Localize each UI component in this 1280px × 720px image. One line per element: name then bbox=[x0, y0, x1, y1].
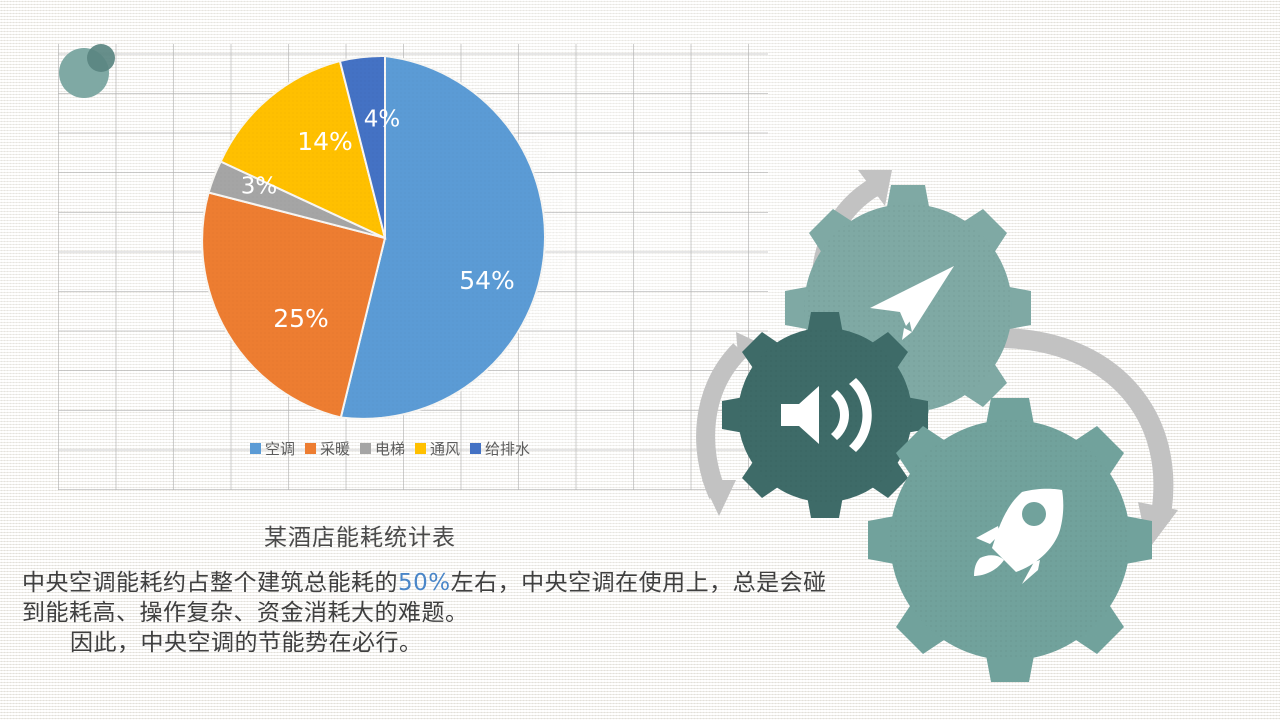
logo-small-circle bbox=[87, 44, 115, 72]
legend-item-0[interactable]: 空调 bbox=[250, 438, 295, 459]
body-line1-part1: 中央空调能耗约占整个建筑总能耗的 bbox=[22, 570, 398, 596]
legend-item-3[interactable]: 通风 bbox=[415, 438, 460, 459]
gears-illustration bbox=[680, 150, 1280, 690]
legend-swatch-icon-4 bbox=[470, 443, 481, 454]
pie-label-4: 4% bbox=[364, 107, 401, 133]
legend-item-2[interactable]: 电梯 bbox=[360, 438, 405, 459]
body-highlight-50: 50% bbox=[398, 570, 451, 596]
gear-bottom[interactable] bbox=[868, 398, 1152, 682]
chart-legend: 空调 采暖 电梯 通风 给排水 bbox=[180, 438, 600, 459]
pie-label-1: 25% bbox=[273, 304, 329, 333]
pie-label-2: 3% bbox=[241, 174, 278, 200]
pie-chart: 54% 25% 3% 14% 4% bbox=[180, 40, 600, 460]
legend-item-1[interactable]: 采暖 bbox=[305, 438, 350, 459]
legend-label-0: 空调 bbox=[265, 438, 295, 459]
legend-label-1: 采暖 bbox=[320, 438, 350, 459]
body-line2: 到能耗高、操作复杂、资金消耗大的难题。 bbox=[22, 600, 469, 626]
legend-swatch-icon-3 bbox=[415, 443, 426, 454]
pie-label-3: 14% bbox=[297, 127, 353, 156]
legend-label-4: 给排水 bbox=[485, 438, 530, 459]
gear-middle[interactable] bbox=[722, 312, 928, 518]
slide-canvas: 54% 25% 3% 14% 4% 空调 采暖 电梯 通风 给排水 某酒店 bbox=[0, 0, 1280, 720]
legend-item-4[interactable]: 给排水 bbox=[470, 438, 530, 459]
legend-swatch-icon-0 bbox=[250, 443, 261, 454]
legend-swatch-icon-2 bbox=[360, 443, 371, 454]
brand-logo bbox=[58, 42, 116, 100]
pie-label-0: 54% bbox=[459, 266, 515, 295]
legend-label-3: 通风 bbox=[430, 438, 460, 459]
legend-swatch-icon-1 bbox=[305, 443, 316, 454]
legend-label-2: 电梯 bbox=[375, 438, 405, 459]
body-line3: 因此，中央空调的节能势在必行。 bbox=[70, 630, 423, 656]
chart-title: 某酒店能耗统计表 bbox=[150, 518, 570, 552]
